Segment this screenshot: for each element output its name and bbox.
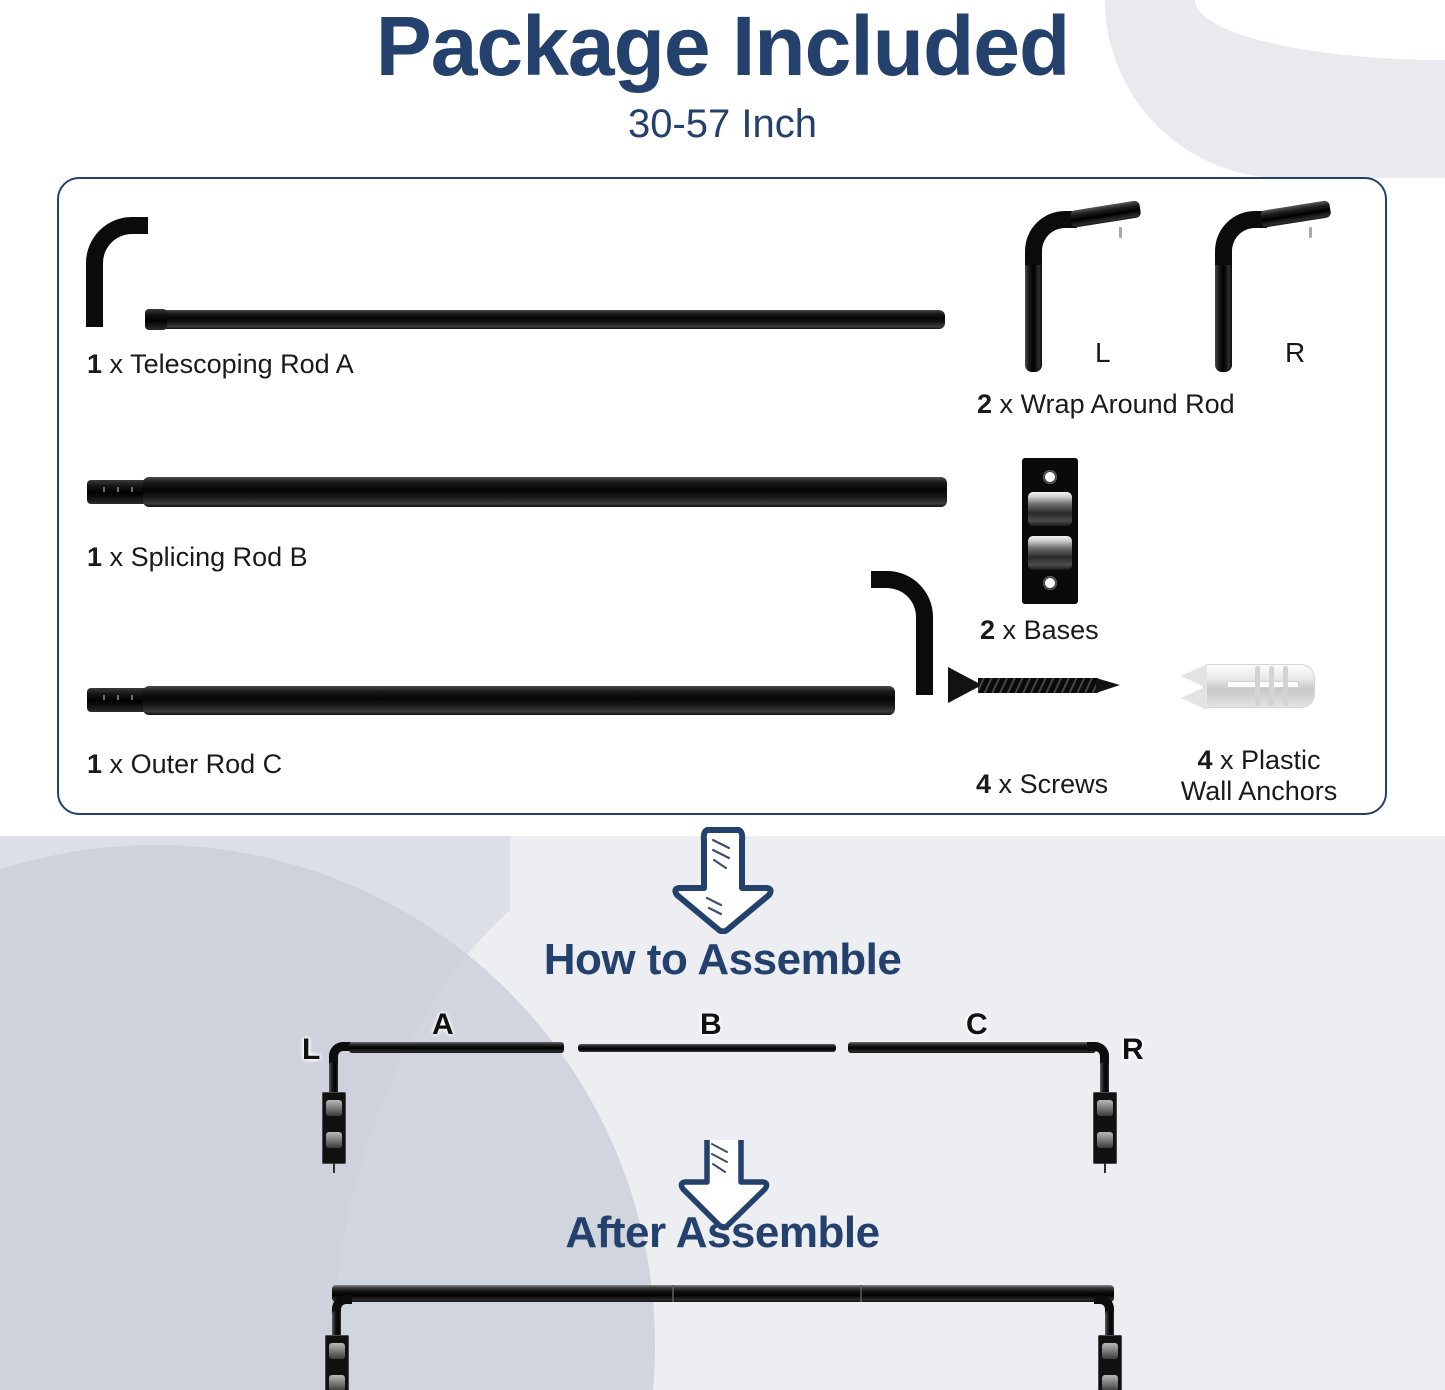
screw-thread [978, 678, 1098, 693]
assembly-right-base [1093, 1092, 1117, 1164]
page-subtitle: 30-57 Inch [0, 102, 1445, 147]
assembled-rod-bar [332, 1285, 1114, 1302]
rod-a-shaft [145, 310, 945, 329]
wall-anchors-label-line1: 4 x Plastic [1129, 745, 1389, 776]
rod-b-tip [87, 480, 149, 504]
package-included-card: 1 x Telescoping Rod A 1 x Splicing Rod B [57, 177, 1387, 815]
assembly-left-marker: L [302, 1033, 320, 1067]
assembly-right-base-clip-top [1097, 1100, 1113, 1116]
wrap-rod-right-leg [1215, 257, 1232, 372]
wrap-rod-right-marker: R [1285, 337, 1305, 369]
assembly-segment-label-a: A [432, 1008, 454, 1042]
x-sep: x [999, 769, 1013, 799]
rod-c-elbow [871, 571, 933, 695]
qty-outer-rod-c: 1 [87, 749, 102, 779]
part-label-screws: 4 x Screws [976, 769, 1108, 800]
wall-anchor-rib-2 [1269, 666, 1274, 706]
part-screw [948, 667, 1128, 707]
assembled-right-base [1098, 1335, 1122, 1390]
assembly-left-base-pin [333, 1163, 335, 1173]
wall-anchor-fin-top [1181, 664, 1207, 688]
base-screw-hole-top [1043, 470, 1057, 484]
wrap-rod-left-pin [1119, 227, 1122, 238]
base-plate [1022, 458, 1078, 604]
name-bases: Bases [1024, 615, 1099, 645]
wrap-rod-left-leg [1025, 257, 1042, 372]
wrap-rod-left-marker: L [1095, 337, 1111, 369]
rod-b-notch-3 [131, 487, 133, 492]
part-wrap-around-rods: L R [1009, 197, 1299, 377]
wall-anchor-rib-1 [1255, 666, 1260, 706]
assembly-segment-c [848, 1042, 1096, 1053]
assembly-right-base-clip-bottom [1097, 1132, 1113, 1148]
name-wall-anchors-line1: Plastic [1241, 745, 1321, 775]
assembled-left-clip-top [329, 1343, 345, 1359]
base-clip-bottom [1028, 536, 1072, 570]
screw-head [948, 667, 982, 703]
rod-c-notch-1 [103, 695, 105, 700]
part-label-splicing-rod-b: 1 x Splicing Rod B [87, 542, 308, 573]
assembled-left-base [325, 1335, 349, 1390]
wrap-rod-right-arm [1260, 200, 1332, 228]
infographic-page: Package Included 30-57 Inch 1 x Telescop… [0, 0, 1445, 1390]
rod-c-notch-2 [117, 695, 119, 700]
assembly-segment-b [578, 1044, 836, 1052]
rod-b-notch-2 [117, 487, 119, 492]
wrap-rod-left-arm [1070, 200, 1142, 228]
assembled-right-clip-bottom [1102, 1375, 1118, 1390]
assembly-left-base-clip-bottom [326, 1132, 342, 1148]
after-assemble-heading: After Assemble [0, 1208, 1445, 1258]
rod-b-notch-1 [103, 487, 105, 492]
rod-b-shaft [143, 477, 947, 507]
name-telescoping-rod-a: Telescoping Rod A [130, 349, 354, 379]
screw-point [1096, 678, 1120, 693]
wall-anchor-slot [1227, 681, 1299, 688]
page-title: Package Included [0, 4, 1445, 90]
name-wrap-around-rod: Wrap Around Rod [1021, 389, 1235, 419]
x-sep: x [1003, 615, 1017, 645]
rod-c-tip [87, 688, 149, 712]
x-sep: x [110, 349, 124, 379]
assembly-segment-a [349, 1042, 564, 1053]
assembled-left-clip-bottom [329, 1375, 345, 1390]
name-splicing-rod-b: Splicing Rod B [131, 542, 308, 572]
assembly-right-marker: R [1122, 1033, 1144, 1067]
assembly-segment-label-b: B [700, 1008, 722, 1042]
assembled-rod-diagram [0, 1285, 1445, 1390]
part-label-outer-rod-c: 1 x Outer Rod C [87, 749, 282, 780]
assembly-right-base-pin [1104, 1163, 1106, 1173]
name-screws: Screws [1020, 769, 1109, 799]
rod-c-shaft [143, 686, 895, 715]
base-clip-top [1028, 492, 1072, 526]
down-arrow-sketch-icon [663, 826, 783, 934]
x-sep: x [110, 542, 124, 572]
page-header: Package Included 30-57 Inch [0, 4, 1445, 147]
assembly-left-base-clip-top [326, 1100, 342, 1116]
assembly-diagram: L A B C R [0, 1000, 1445, 1140]
x-sep: x [1000, 389, 1014, 419]
part-label-telescoping-rod-a: 1 x Telescoping Rod A [87, 349, 354, 380]
qty-wrap-around-rod: 2 [977, 389, 992, 419]
wrap-rod-left-bend [1025, 211, 1077, 265]
how-to-assemble-heading: How to Assemble [0, 935, 1445, 985]
qty-bases: 2 [980, 615, 995, 645]
wall-anchor-rib-3 [1283, 666, 1288, 706]
assembled-right-clip-top [1102, 1343, 1118, 1359]
wrap-rod-right-pin [1309, 227, 1312, 238]
part-label-bases: 2 x Bases [980, 615, 1099, 646]
qty-splicing-rod-b: 1 [87, 542, 102, 572]
rod-a-joint [145, 309, 167, 330]
assembly-segment-label-c: C [966, 1008, 988, 1042]
qty-telescoping-rod-a: 1 [87, 349, 102, 379]
wrap-rod-right-bend [1215, 211, 1267, 265]
base-screw-hole-bottom [1043, 576, 1057, 590]
x-sep: x [1220, 745, 1234, 775]
rod-c-notch-3 [131, 695, 133, 700]
wall-anchor-fin-bottom [1181, 686, 1207, 710]
assembled-rod-seam-1 [672, 1285, 674, 1302]
part-label-wrap-around-rod: 2 x Wrap Around Rod [977, 389, 1235, 420]
part-label-wall-anchors: 4 x Plastic Wall Anchors [1129, 745, 1389, 807]
qty-wall-anchors: 4 [1197, 745, 1212, 775]
part-wall-anchor [1181, 664, 1341, 710]
qty-screws: 4 [976, 769, 991, 799]
assembled-rod-seam-2 [860, 1285, 862, 1302]
wall-anchors-label-line2: Wall Anchors [1129, 776, 1389, 807]
x-sep: x [110, 749, 124, 779]
assembly-left-base [322, 1092, 346, 1164]
name-outer-rod-c: Outer Rod C [131, 749, 283, 779]
rod-a-elbow [86, 217, 148, 327]
